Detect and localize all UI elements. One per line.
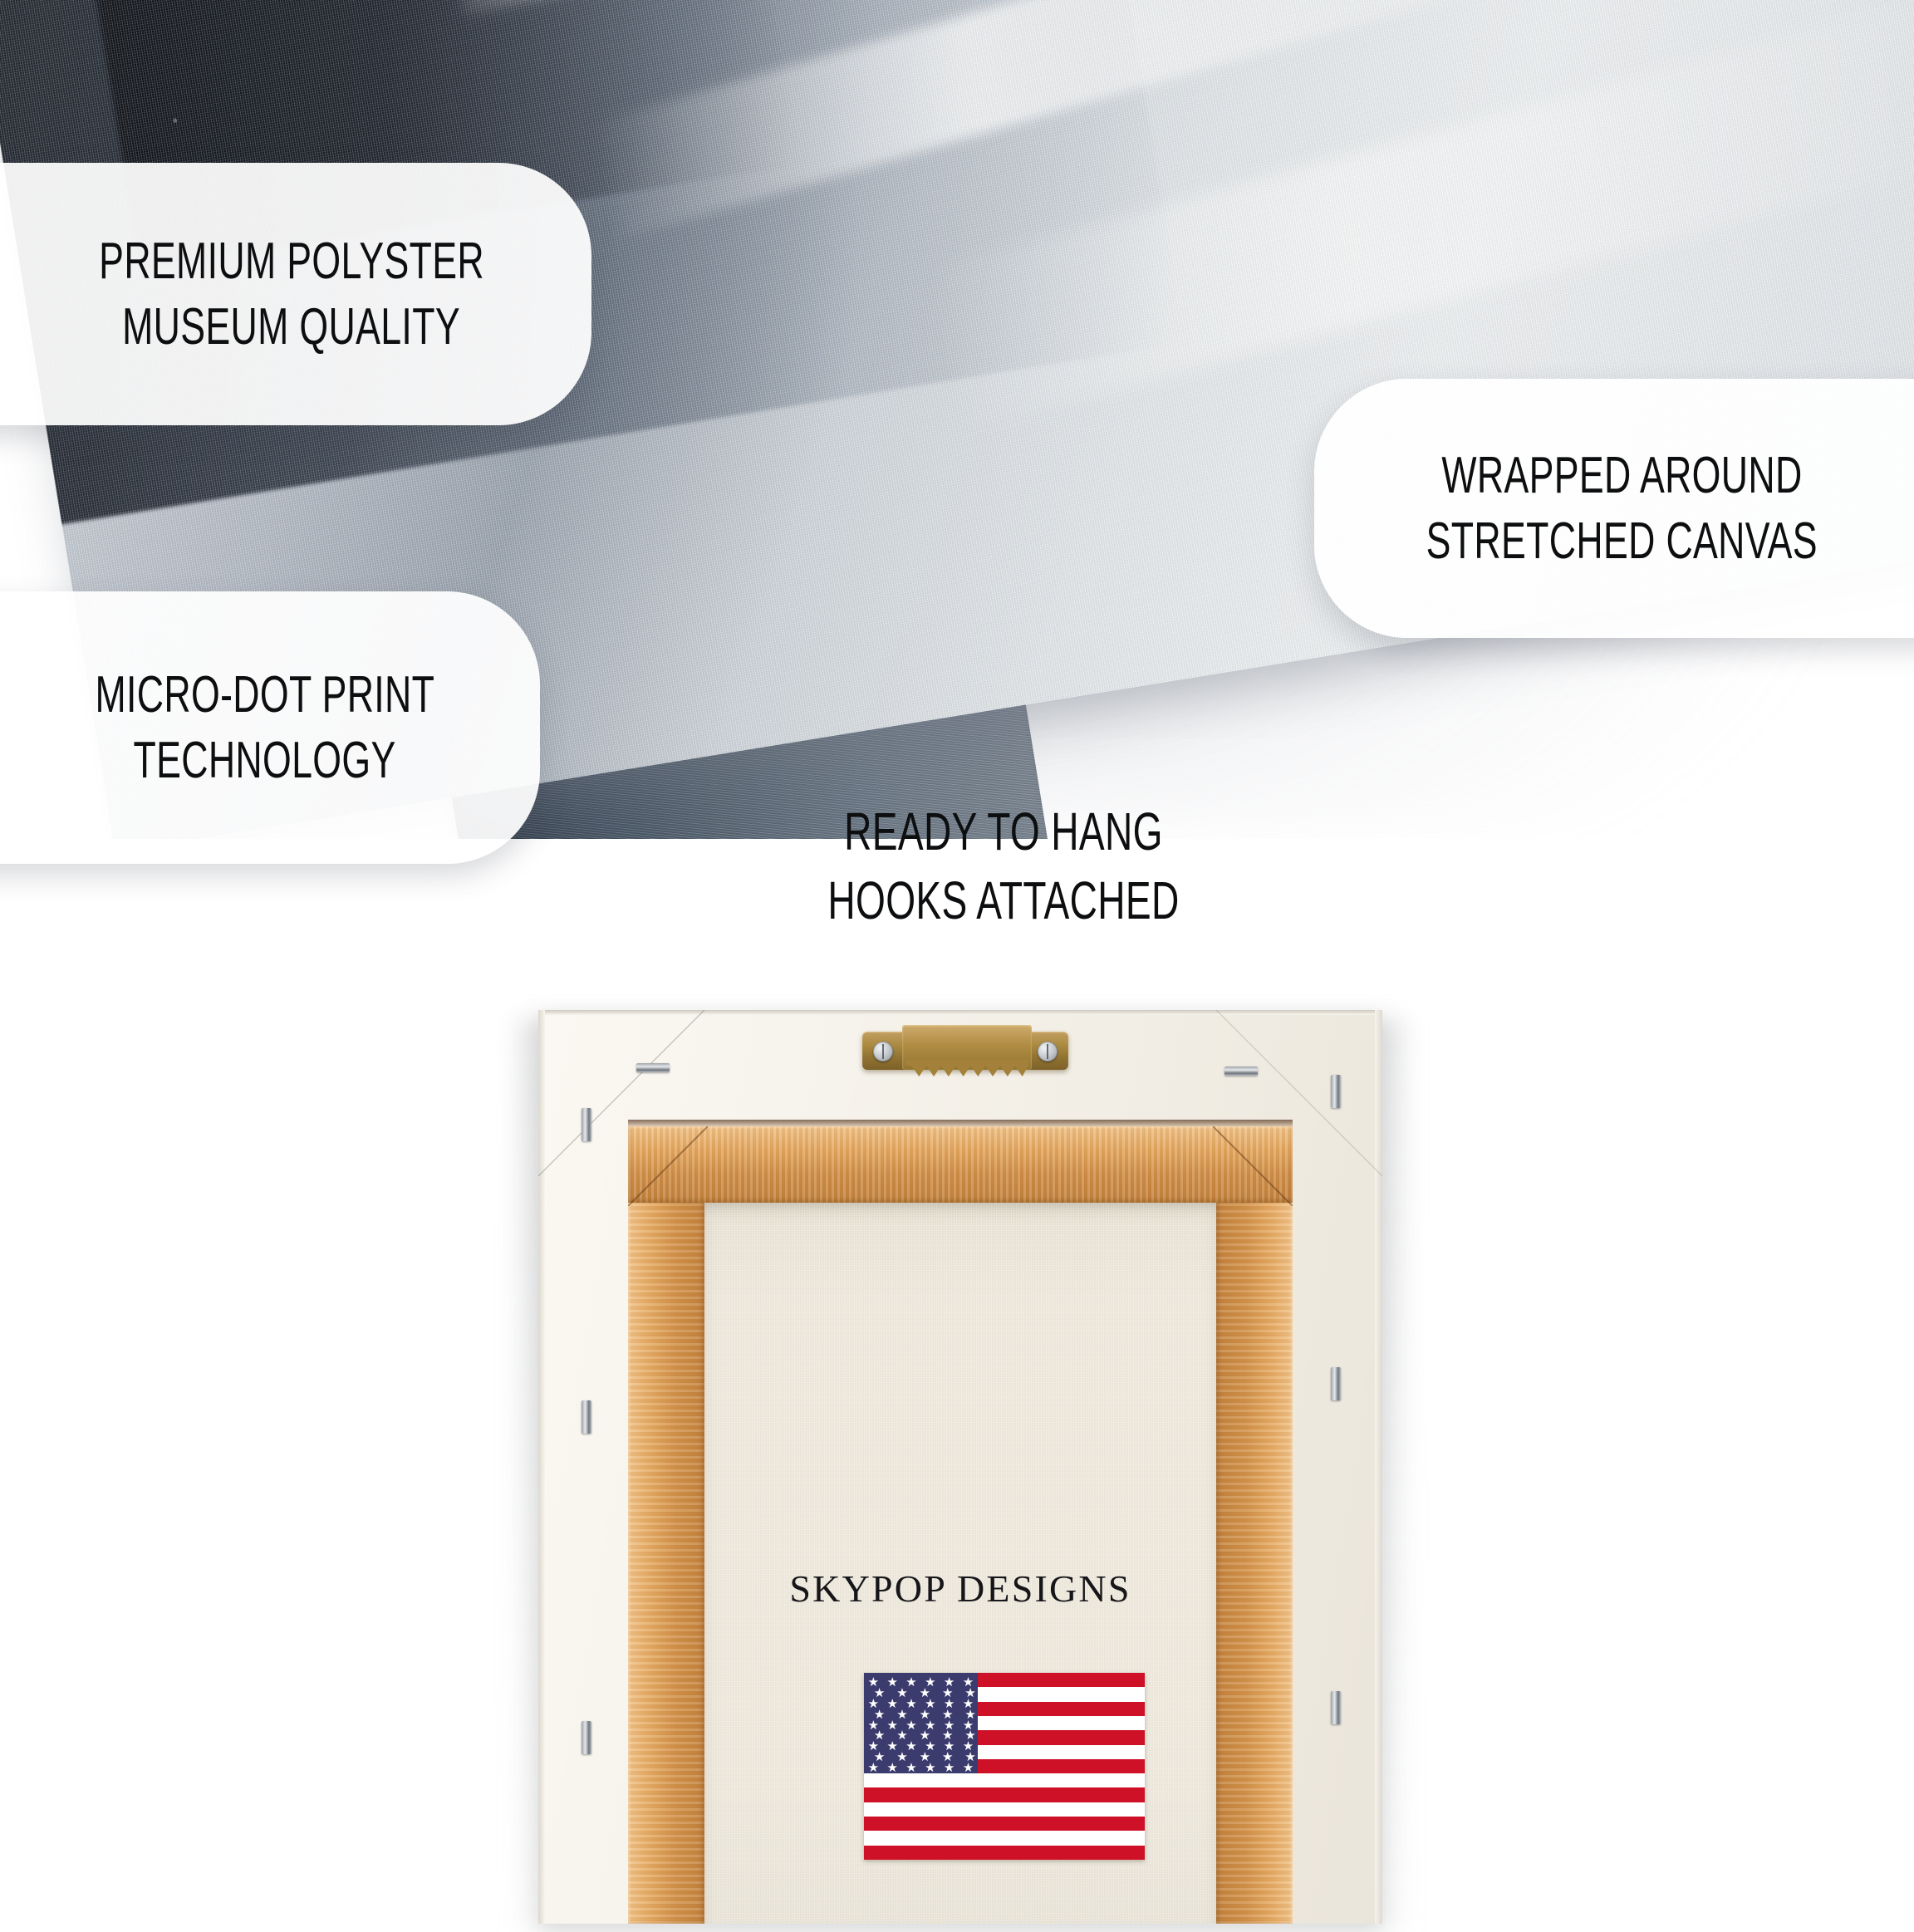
- flag-star-icon: ★: [963, 1762, 974, 1774]
- flag-star-icon: ★: [868, 1762, 879, 1774]
- flag-star-icon: ★: [925, 1762, 935, 1774]
- staple-right-3: [1331, 1691, 1341, 1724]
- stretcher-miter-left: [628, 1126, 708, 1206]
- hanger-screw-right: [1038, 1042, 1058, 1062]
- badge-line-2: STRETCHED CANVAS: [1426, 508, 1817, 574]
- hanger-screw-left: [873, 1042, 893, 1062]
- flag-stripe: [864, 1817, 1145, 1831]
- flag-canton: ★★★★★★★★★★★★★★★★★★★★★★★★★★★★★★★★★★★★★★★★…: [864, 1673, 978, 1773]
- feature-badge-wrapped-around: WRAPPED AROUND STRETCHED CANVAS: [1314, 379, 1914, 638]
- flag-stripe: [864, 1773, 1145, 1787]
- staple-left-3: [582, 1721, 591, 1754]
- stretcher-bar-left: [628, 1126, 704, 1924]
- canvas-back-view: SKYPOP DESIGNS ★★★★★★★★★★★★★★★★★★★★★★★★★…: [538, 1010, 1382, 1924]
- sawtooth-hanger-icon: [862, 1025, 1068, 1080]
- flag-stripe: [864, 1831, 1145, 1845]
- stretcher-bar-right: [1216, 1126, 1293, 1924]
- flag-stripe: [864, 1846, 1145, 1860]
- badge-line-2: TECHNOLOGY: [134, 728, 396, 793]
- canvas-back-outer-wrap: SKYPOP DESIGNS ★★★★★★★★★★★★★★★★★★★★★★★★★…: [538, 1010, 1382, 1924]
- hanger-sawtooth: [905, 1060, 1028, 1076]
- feature-badge-micro-dot-print: MICRO-DOT PRINT TECHNOLOGY: [0, 591, 540, 864]
- brand-label: SKYPOP DESIGNS: [538, 1567, 1382, 1611]
- staple-right-2: [1331, 1367, 1341, 1400]
- flag-star-icon: ★: [944, 1762, 955, 1774]
- flag-star-icon: ★: [886, 1762, 897, 1774]
- feature-badge-premium-polyster: PREMIUM POLYSTER MUSEUM QUALITY: [0, 163, 591, 425]
- flag-stripe: [864, 1787, 1145, 1802]
- usa-flag-icon: ★★★★★★★★★★★★★★★★★★★★★★★★★★★★★★★★★★★★★★★★…: [864, 1673, 1145, 1860]
- staple-top-right: [1224, 1067, 1258, 1076]
- callout-line-2: HOOKS ATTACHED: [776, 866, 1230, 935]
- stretcher-miter-right: [1213, 1126, 1293, 1206]
- staple-left-1: [582, 1108, 591, 1141]
- feature-callout-ready-to-hang: READY TO HANG HOOKS ATTACHED: [688, 797, 1319, 935]
- staple-right-1: [1331, 1075, 1341, 1108]
- stretcher-bar-top: [628, 1126, 1293, 1203]
- badge-line-1: WRAPPED AROUND: [1441, 443, 1802, 508]
- callout-line-1: READY TO HANG: [776, 797, 1230, 866]
- flag-star-row: ★★★★★★: [864, 1762, 978, 1774]
- badge-line-1: PREMIUM POLYSTER: [99, 228, 484, 294]
- badge-line-2: MUSEUM QUALITY: [123, 294, 461, 360]
- badge-line-1: MICRO-DOT PRINT: [96, 662, 435, 728]
- staple-left-2: [582, 1400, 591, 1434]
- flag-star-icon: ★: [905, 1762, 916, 1774]
- flag-stripe: [864, 1802, 1145, 1817]
- staple-top-left: [636, 1063, 670, 1072]
